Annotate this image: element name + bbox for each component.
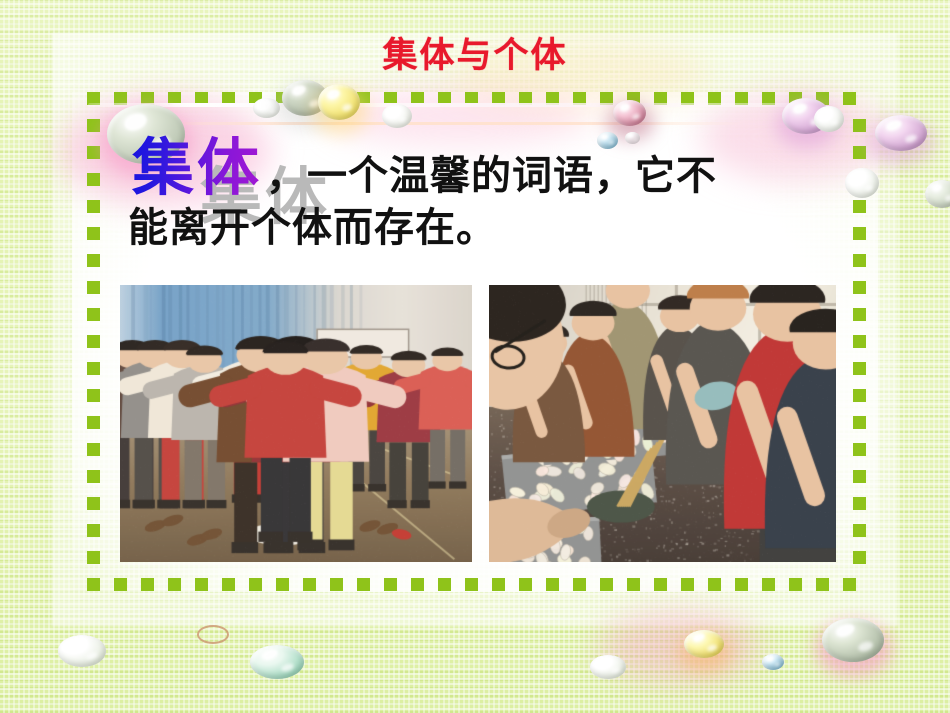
border-dash xyxy=(87,551,100,564)
border-dash xyxy=(853,200,866,213)
border-dash xyxy=(168,578,181,591)
border-dash xyxy=(789,578,802,591)
highlight-word: 集体 xyxy=(128,131,266,204)
border-dash xyxy=(600,578,613,591)
border-dash xyxy=(853,443,866,456)
slide-title: 集体与个体 xyxy=(0,34,950,78)
border-dash xyxy=(87,335,100,348)
border-dash xyxy=(141,578,154,591)
border-dash xyxy=(330,578,343,591)
border-dash xyxy=(87,443,100,456)
border-dash xyxy=(546,578,559,591)
border-dash xyxy=(816,578,829,591)
border-dash xyxy=(843,92,856,105)
bubble-glow xyxy=(869,119,935,165)
border-dash xyxy=(681,578,694,591)
border-dash xyxy=(465,578,478,591)
border-dash xyxy=(853,146,866,159)
border-dash xyxy=(87,497,100,510)
border-dash xyxy=(87,281,100,294)
group-activity-photo xyxy=(120,285,472,562)
border-dash xyxy=(843,578,856,591)
border-dash xyxy=(853,119,866,132)
body-text-line-1-rest: ，一个温馨的词语，它不 xyxy=(266,153,717,199)
decorative-rule-lower xyxy=(150,122,750,125)
border-dash xyxy=(853,497,866,510)
bubble-glow xyxy=(607,104,654,140)
border-dash xyxy=(708,578,721,591)
border-dash xyxy=(87,362,100,375)
body-text-line-2: 能离开个体而存在。 xyxy=(128,200,838,256)
border-dash xyxy=(87,173,100,186)
border-dash xyxy=(853,524,866,537)
bubble-glow xyxy=(312,88,368,134)
border-dash xyxy=(735,578,748,591)
decorative-rule-upper xyxy=(88,103,806,107)
border-dash xyxy=(853,335,866,348)
border-dash xyxy=(87,470,100,483)
border-dash xyxy=(357,578,370,591)
border-dash xyxy=(438,578,451,591)
border-dash xyxy=(627,578,640,591)
border-dash xyxy=(384,578,397,591)
slide-body-text: 集体，一个温馨的词语，它不 能离开个体而存在。 xyxy=(128,140,838,256)
border-dash xyxy=(853,173,866,186)
border-dash xyxy=(573,578,586,591)
bubble-glow xyxy=(816,622,892,676)
presentation-slide: 集体与个体 集体 集体，一个温馨的词语，它不 能离开个体而存在。 xyxy=(0,0,950,713)
border-dash xyxy=(222,578,235,591)
border-dash xyxy=(654,578,667,591)
border-dash xyxy=(853,416,866,429)
border-dash xyxy=(853,551,866,564)
bubble-glow xyxy=(678,634,732,672)
border-dash xyxy=(114,578,127,591)
border-dash xyxy=(853,389,866,402)
border-dash xyxy=(853,227,866,240)
border-dash xyxy=(853,254,866,267)
border-dash xyxy=(853,281,866,294)
border-dash xyxy=(853,308,866,321)
border-dash xyxy=(303,578,316,591)
border-dash xyxy=(492,578,505,591)
dumpling-making-photo xyxy=(489,285,836,562)
border-dash xyxy=(87,389,100,402)
border-dash xyxy=(87,254,100,267)
border-dash xyxy=(853,362,866,375)
border-dash xyxy=(276,578,289,591)
border-dash xyxy=(87,308,100,321)
border-dash xyxy=(87,200,100,213)
border-dash xyxy=(249,578,262,591)
border-dash xyxy=(87,119,100,132)
border-dash xyxy=(519,578,532,591)
border-dash xyxy=(87,416,100,429)
body-text-line-1: 集体，一个温馨的词语，它不 xyxy=(128,140,838,204)
border-dash xyxy=(411,578,424,591)
border-dash xyxy=(87,146,100,159)
border-dash xyxy=(87,227,100,240)
border-dash xyxy=(853,470,866,483)
border-dash xyxy=(195,578,208,591)
border-dash xyxy=(87,578,100,591)
border-dash xyxy=(87,524,100,537)
border-dash xyxy=(762,578,775,591)
